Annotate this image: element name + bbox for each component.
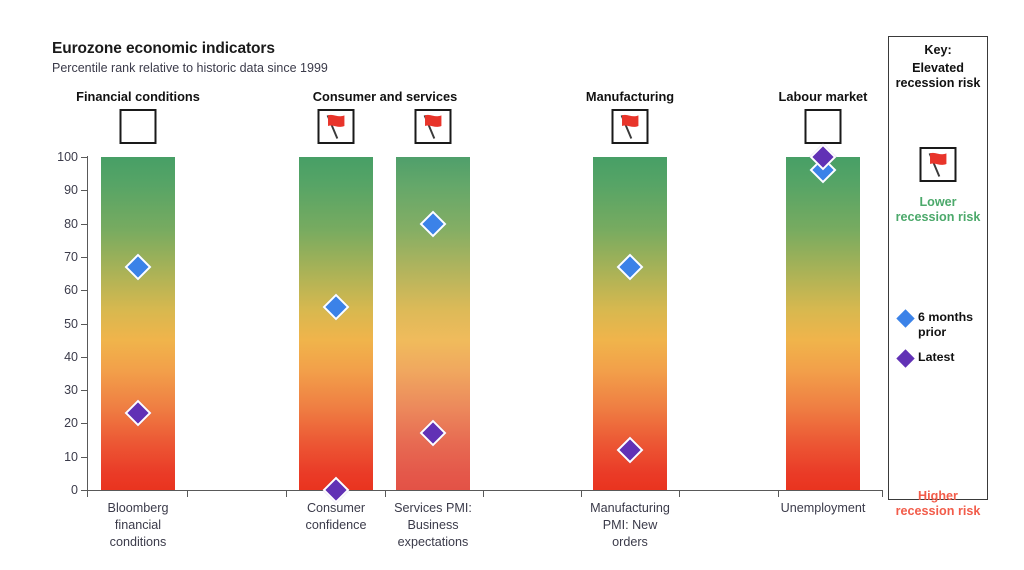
key-lower-risk-label: Lower recession risk	[889, 195, 987, 225]
x-axis-label-line: Manufacturing	[590, 501, 670, 515]
flag-box-empty	[805, 109, 842, 144]
x-tick-mark	[882, 490, 883, 497]
y-tick-label: 0	[42, 483, 78, 497]
y-tick-label: 90	[42, 183, 78, 197]
key-title: Key:	[889, 43, 987, 57]
key-entry-latest: Latest	[899, 350, 955, 365]
x-axis-label-line: Bloomberg	[108, 501, 169, 515]
red-flag-icon	[318, 109, 355, 144]
x-axis-label-4: Unemployment	[763, 500, 883, 517]
key-elevated-label: Elevated recession risk	[889, 61, 987, 91]
key-higher-line2: recession risk	[896, 504, 981, 518]
y-tick-label: 30	[42, 383, 78, 397]
key-elevated-line1: Elevated	[912, 61, 964, 75]
legend-diamond-prior-icon	[896, 309, 914, 327]
x-axis-label-line: Consumer	[307, 501, 365, 515]
x-axis-label-line: orders	[612, 535, 648, 549]
key-lower-line1: Lower	[919, 195, 956, 209]
group-header-3: Labour market	[779, 89, 868, 104]
key-entry-prior: 6 months prior	[899, 310, 987, 340]
x-axis-label-0: Bloombergfinancialconditions	[78, 500, 198, 551]
key-higher-risk-label: Higher recession risk	[889, 489, 987, 519]
group-header-2: Manufacturing	[586, 89, 674, 104]
plot-area	[88, 157, 882, 490]
legend-diamond-latest-icon	[896, 349, 914, 367]
y-tick-label: 80	[42, 217, 78, 231]
flag-box-empty	[120, 109, 157, 144]
x-tick-mark	[286, 490, 287, 497]
bar-0	[101, 157, 175, 490]
y-tick-label: 20	[42, 416, 78, 430]
y-tick-label: 40	[42, 350, 78, 364]
y-tick-label: 60	[42, 283, 78, 297]
y-tick-label: 50	[42, 317, 78, 331]
x-axis-line	[87, 490, 883, 491]
x-axis-label-line: financial	[115, 518, 161, 532]
x-axis-label-line: conditions	[110, 535, 167, 549]
x-tick-mark	[87, 490, 88, 497]
x-axis-label-3: ManufacturingPMI: Neworders	[570, 500, 690, 551]
bar-1	[299, 157, 373, 490]
x-axis-label-line: confidence	[306, 518, 367, 532]
y-axis-labels: 0102030405060708090100	[38, 0, 78, 570]
x-tick-mark	[778, 490, 779, 497]
page-title: Eurozone economic indicators	[52, 40, 275, 58]
key-entry-label: 6 months prior	[918, 310, 987, 340]
x-tick-mark	[385, 490, 386, 497]
x-tick-mark	[679, 490, 680, 497]
group-header-0: Financial conditions	[76, 89, 200, 104]
bar-4	[786, 157, 860, 490]
group-header-1: Consumer and services	[313, 89, 457, 104]
x-axis-label-line: PMI: New	[603, 518, 658, 532]
x-tick-mark	[187, 490, 188, 497]
key-higher-line1: Higher	[918, 489, 958, 503]
red-flag-icon	[612, 109, 649, 144]
x-axis-label-line: expectations	[398, 535, 469, 549]
page-subtitle: Percentile rank relative to historic dat…	[52, 61, 328, 75]
x-tick-mark	[483, 490, 484, 497]
red-flag-icon	[920, 147, 957, 182]
key-elevated-line2: recession risk	[896, 76, 981, 90]
x-axis-label-line: Business	[407, 518, 458, 532]
key-panel: Key: Elevated recession risk Lower reces…	[888, 36, 988, 500]
x-axis-label-line: Unemployment	[781, 501, 866, 515]
x-tick-mark	[581, 490, 582, 497]
y-tick-label: 10	[42, 450, 78, 464]
y-tick-label: 70	[42, 250, 78, 264]
key-entry-label: Latest	[918, 350, 955, 365]
red-flag-icon	[415, 109, 452, 144]
y-tick-label: 100	[42, 150, 78, 164]
x-axis-label-2: Services PMI:Businessexpectations	[373, 500, 493, 551]
chart-root: Eurozone economic indicators Percentile …	[0, 0, 1024, 570]
x-axis-label-line: Services PMI:	[394, 501, 472, 515]
key-lower-line2: recession risk	[896, 210, 981, 224]
